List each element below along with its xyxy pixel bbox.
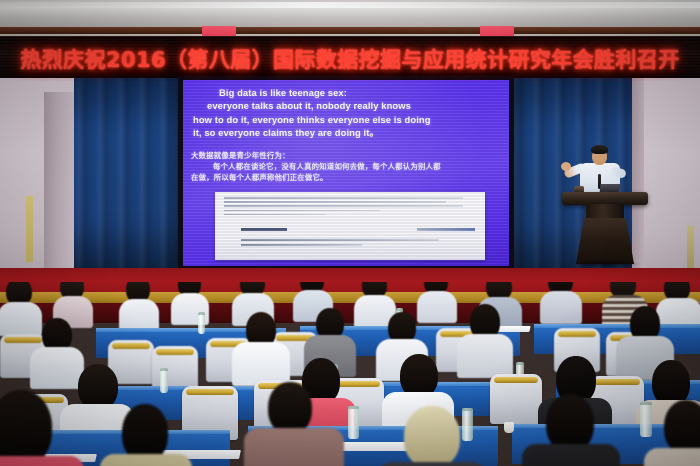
slide-en-line: how to do it, everyone thinks everyone e… bbox=[193, 113, 501, 126]
person-body bbox=[522, 444, 620, 466]
person-head-light-hair bbox=[404, 406, 460, 466]
slide-en-line: it, so everyone claims they are doing it… bbox=[193, 126, 501, 139]
person-body bbox=[100, 454, 192, 466]
card-tag-bar bbox=[417, 228, 475, 231]
slide-chinese-text: 大数据就像是青少年性行为： 每个人都在谈论它，没有人真的知道如何去做，每个人都认… bbox=[191, 150, 501, 183]
ceiling bbox=[0, 0, 700, 30]
person-body bbox=[0, 456, 84, 466]
speaker-hair bbox=[591, 145, 608, 154]
slide-en-line: everyone talks about it, nobody really k… bbox=[193, 99, 501, 112]
card-heading-bar bbox=[241, 228, 287, 231]
person-head-long-hair bbox=[0, 390, 52, 466]
person-body bbox=[378, 462, 486, 466]
projection-screen-frame: Big data is like teenage sex: everyone t… bbox=[178, 76, 514, 272]
wall-recess-left bbox=[44, 92, 74, 290]
slide-zh-line: 在做，所以每个人都声称他们正在做它。 bbox=[191, 172, 501, 183]
audience-foreground bbox=[0, 282, 700, 466]
slide-screenshot-card bbox=[215, 192, 485, 260]
person-head bbox=[664, 400, 700, 454]
slide-english-text: Big data is like teenage sex: everyone t… bbox=[193, 86, 501, 140]
wall-plate-right bbox=[687, 226, 694, 272]
person-body bbox=[644, 448, 700, 466]
person-body bbox=[244, 428, 344, 466]
led-banner-text: 热烈庆祝2016（第八届）国际数据挖掘与应用统计研究年会胜利召开 bbox=[20, 44, 679, 74]
slide-zh-line: 每个人都在谈论它，没有人真的知道如何去做，每个人都认为别人都 bbox=[191, 161, 501, 172]
ceiling-light-strip bbox=[0, 2, 700, 8]
podium-base bbox=[576, 218, 634, 264]
podium-and-speaker bbox=[556, 140, 652, 272]
podium-shadow bbox=[570, 260, 640, 268]
card-text-lines bbox=[224, 197, 476, 218]
wall-left bbox=[0, 78, 74, 290]
audience-area bbox=[0, 282, 700, 466]
card-body-lines bbox=[241, 239, 461, 249]
slide-en-line: Big data is like teenage sex: bbox=[193, 86, 501, 99]
person-head bbox=[268, 382, 312, 434]
slide-zh-line: 大数据就像是青少年性行为： bbox=[191, 150, 501, 161]
podium-neck bbox=[586, 204, 624, 220]
conference-hall-photo: 热烈庆祝2016（第八届）国际数据挖掘与应用统计研究年会胜利召开 Big dat… bbox=[0, 0, 700, 466]
speaker-hand bbox=[561, 162, 571, 171]
projection-screen: Big data is like teenage sex: everyone t… bbox=[183, 80, 509, 266]
wall-strip-left bbox=[26, 196, 33, 262]
stage-curtain-left bbox=[74, 78, 182, 290]
